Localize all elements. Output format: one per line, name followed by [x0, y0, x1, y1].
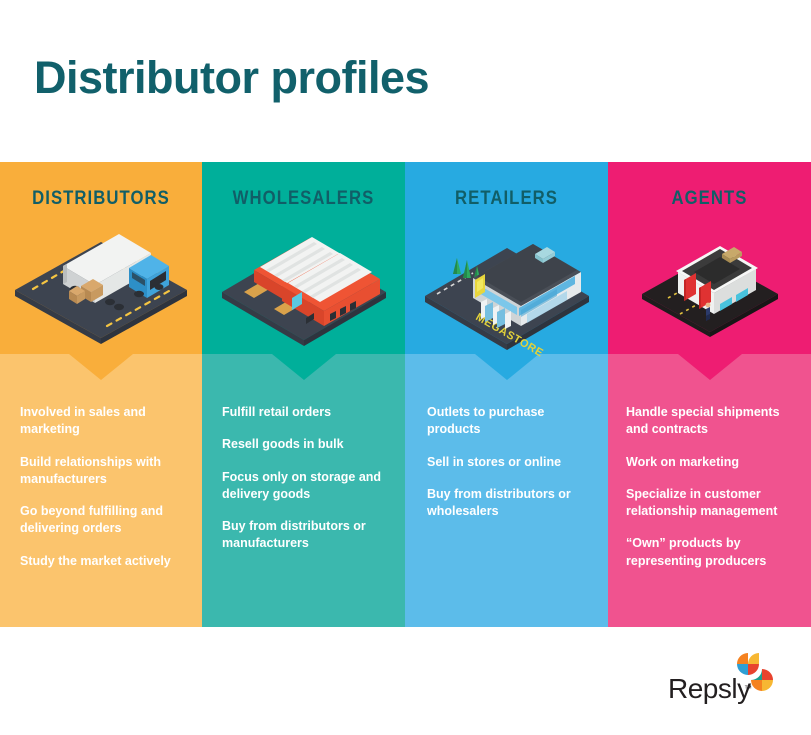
column-retailers: RETAILERS MEGASTORE — [405, 162, 608, 627]
list-item: Build relationships with manufacturers — [20, 454, 184, 489]
list-item: Involved in sales and marketing — [20, 404, 184, 439]
column-agents: AGENTS — [608, 162, 811, 627]
warehouse-icon — [202, 214, 405, 359]
list-item: Resell goods in bulk — [222, 436, 387, 453]
page-title: Distributor profiles — [34, 53, 429, 103]
list-item: Go beyond fulfilling and delivering orde… — [20, 503, 184, 538]
column-header-agents: AGENTS — [620, 188, 799, 210]
column-header-retailers: RETAILERS — [417, 188, 596, 210]
list-item: Specialize in customer relationship mana… — [626, 486, 793, 521]
column-header-wholesalers: WHOLESALERS — [214, 188, 393, 210]
bullet-list-agents: Handle special shipments and contracts W… — [608, 404, 811, 570]
column-wholesalers: WHOLESALERS — [202, 162, 405, 627]
list-item: Handle special shipments and contracts — [626, 404, 793, 439]
bullet-list-wholesalers: Fulfill retail orders Resell goods in bu… — [202, 404, 405, 553]
list-item: “Own” products by representing producers — [626, 535, 793, 570]
bullet-list-retailers: Outlets to purchase products Sell in sto… — [405, 404, 608, 520]
truck-on-road-icon — [0, 214, 202, 359]
repsly-logo[interactable]: Repsly ™ — [668, 648, 788, 710]
profiles-panel: DISTRIBUTORS — [0, 162, 811, 627]
small-office-building-icon — [608, 214, 811, 359]
bullet-list-distributors: Involved in sales and marketing Build re… — [0, 404, 202, 570]
column-distributors: DISTRIBUTORS — [0, 162, 202, 627]
list-item: Work on marketing — [626, 454, 793, 471]
column-header-distributors: DISTRIBUTORS — [12, 188, 190, 210]
list-item: Sell in stores or online — [427, 454, 590, 471]
list-item: Study the market actively — [20, 553, 184, 570]
list-item: Fulfill retail orders — [222, 404, 387, 421]
list-item: Buy from distributors or manufacturers — [222, 518, 387, 553]
list-item: Focus only on storage and delivery goods — [222, 469, 387, 504]
list-item: Buy from distributors or wholesalers — [427, 486, 590, 521]
repsly-pinwheel-icon — [728, 648, 784, 709]
megastore-icon: MEGASTORE — [405, 214, 608, 359]
list-item: Outlets to purchase products — [427, 404, 590, 439]
